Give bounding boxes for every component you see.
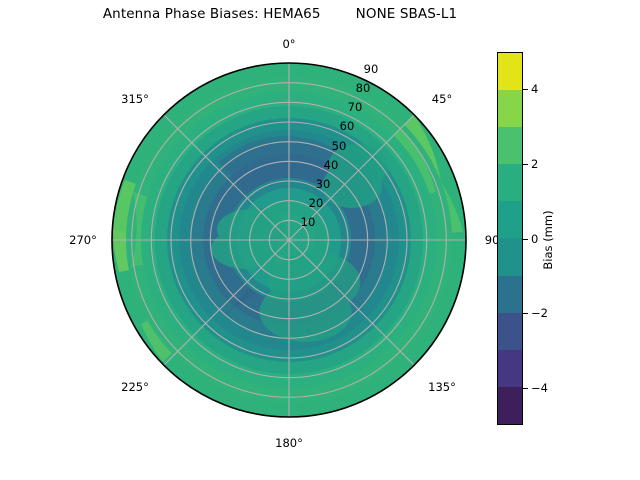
azimuth-label-315: 315° bbox=[121, 92, 149, 106]
radial-label-10: 10 bbox=[301, 215, 316, 229]
colorbar-band-9 bbox=[498, 53, 522, 90]
azimuth-label-270: 270° bbox=[69, 233, 97, 247]
azimuth-label-45: 45° bbox=[432, 92, 452, 106]
figure-canvas: Antenna Phase Biases: HEMA65 NONE SBAS-L… bbox=[0, 0, 640, 480]
azimuth-label-135: 135° bbox=[428, 380, 456, 394]
colorbar-ticklabel-2: 2 bbox=[531, 157, 538, 171]
colorbar-tick-0 bbox=[523, 239, 528, 240]
colorbar-gradient bbox=[497, 52, 523, 425]
polar-plot-svg bbox=[111, 62, 467, 418]
colorbar-tick-m2 bbox=[523, 313, 528, 314]
colorbar-band-1 bbox=[498, 350, 522, 387]
colorbar-band-0 bbox=[498, 387, 522, 424]
colorbar-ticklabel-m4: −4 bbox=[531, 381, 548, 395]
colorbar-band-3 bbox=[498, 276, 522, 313]
radial-label-60: 60 bbox=[340, 119, 355, 133]
colorbar-band-5 bbox=[498, 201, 522, 238]
colorbar-band-7 bbox=[498, 127, 522, 164]
polar-axes: 0° 45° 90° 135° 180° 225° 270° 315° 10 2… bbox=[111, 62, 467, 418]
colorbar-tick-2 bbox=[523, 164, 528, 165]
radial-label-20: 20 bbox=[309, 196, 324, 210]
colorbar-band-2 bbox=[498, 313, 522, 350]
azimuth-label-225: 225° bbox=[121, 380, 149, 394]
radial-label-80: 80 bbox=[356, 81, 371, 95]
colorbar-tick-m4 bbox=[523, 388, 528, 389]
colorbar-tick-4 bbox=[523, 89, 528, 90]
colorbar-axis-label: Bias (mm) bbox=[541, 210, 555, 269]
radial-label-30: 30 bbox=[316, 177, 331, 191]
colorbar-ticklabel-4: 4 bbox=[531, 82, 538, 96]
azimuth-label-0: 0° bbox=[282, 37, 295, 51]
chart-title: Antenna Phase Biases: HEMA65 NONE SBAS-L… bbox=[0, 6, 560, 22]
colorbar-band-4 bbox=[498, 238, 522, 275]
polar-grid-spokes bbox=[112, 63, 466, 417]
radial-label-40: 40 bbox=[324, 158, 339, 172]
colorbar-band-8 bbox=[498, 90, 522, 127]
radial-label-50: 50 bbox=[332, 139, 347, 153]
radial-label-70: 70 bbox=[348, 100, 363, 114]
colorbar-ticklabel-m2: −2 bbox=[531, 306, 548, 320]
radial-label-90: 90 bbox=[364, 62, 379, 76]
colorbar: 4 2 0 −2 −4 bbox=[497, 52, 523, 425]
colorbar-ticklabel-0: 0 bbox=[531, 232, 538, 246]
azimuth-label-180: 180° bbox=[275, 436, 303, 450]
colorbar-band-6 bbox=[498, 164, 522, 201]
